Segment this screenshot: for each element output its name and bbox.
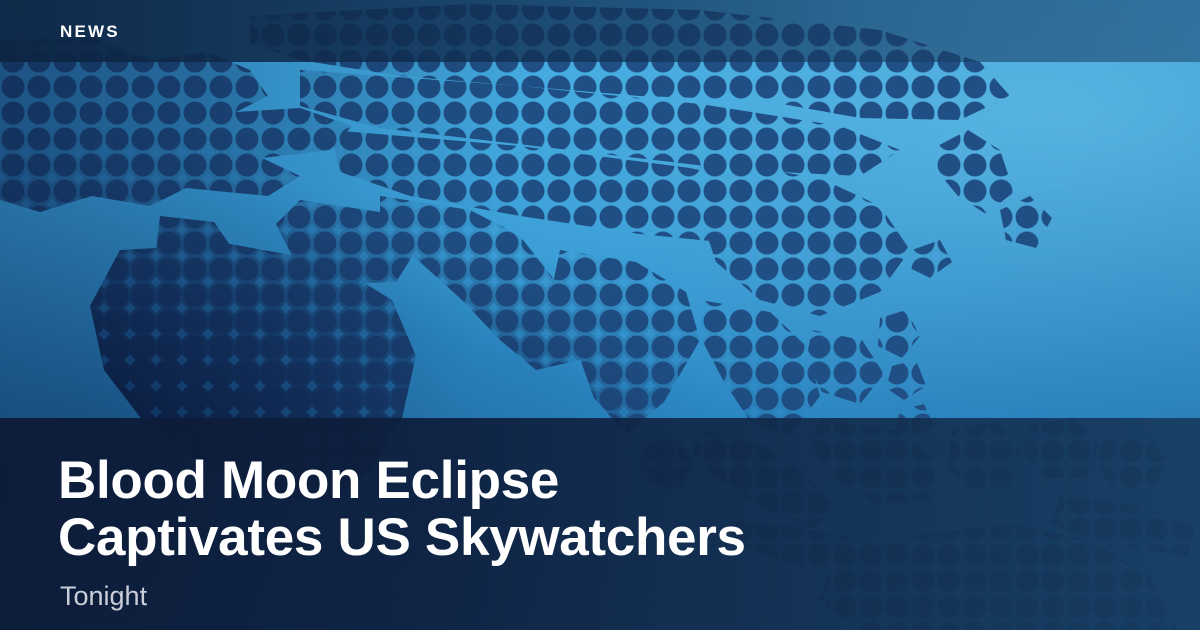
page-title: Blood Moon Eclipse Captivates US Skywatc…	[58, 452, 1038, 566]
subtitle: Tonight	[60, 580, 147, 612]
kicker-label: NEWS	[60, 22, 120, 42]
news-share-card: NEWS Blood Moon Eclipse Captivates US Sk…	[0, 0, 1200, 630]
top-overlay-band	[0, 0, 1200, 62]
